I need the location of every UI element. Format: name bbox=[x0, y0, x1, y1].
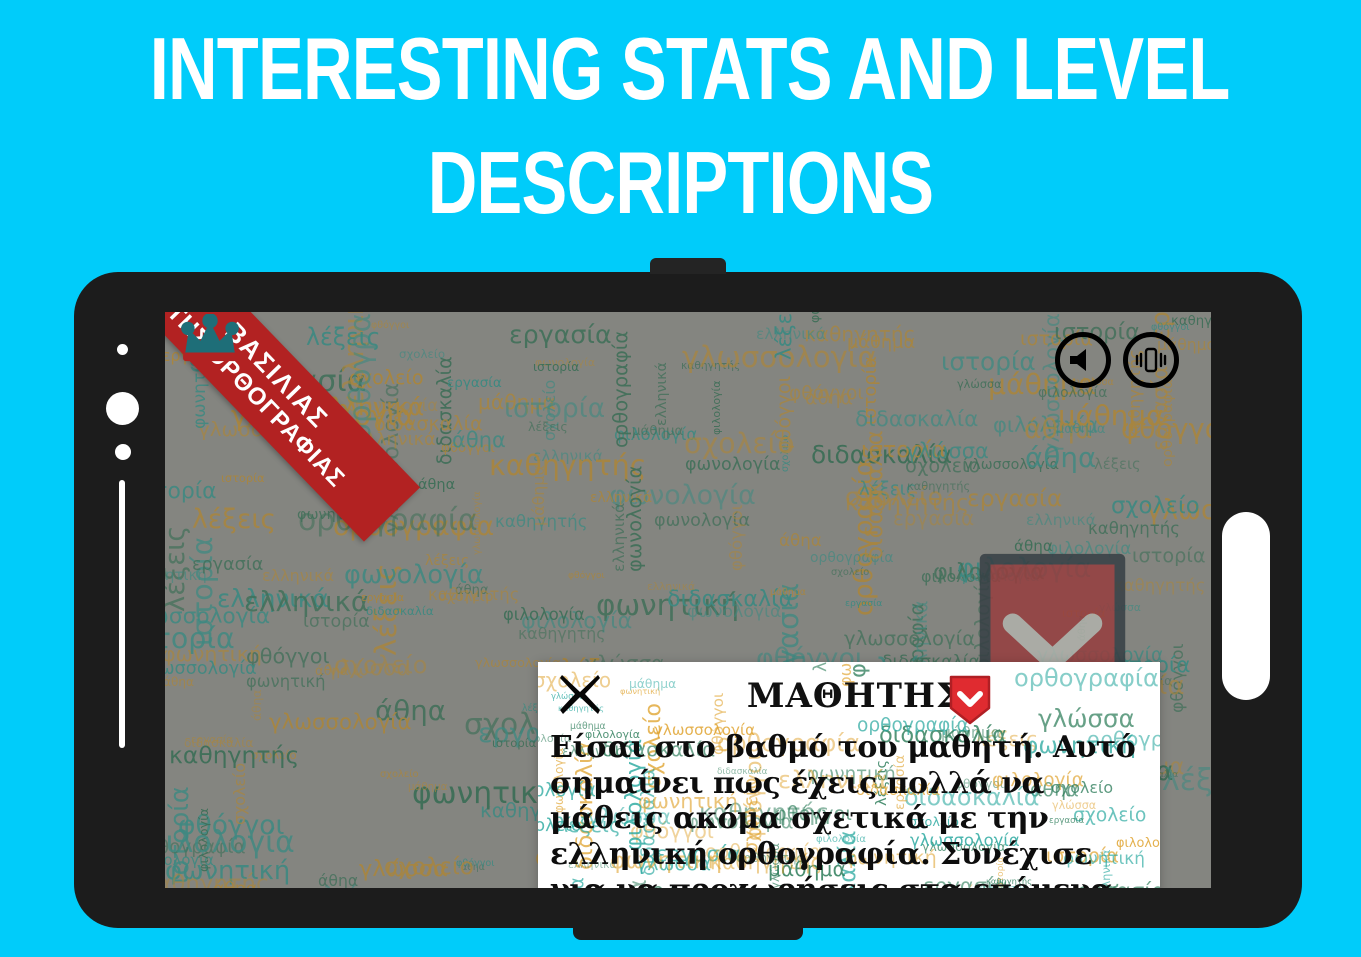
wordcloud-word: ελληνικά bbox=[647, 580, 695, 593]
power-button[interactable] bbox=[1222, 512, 1270, 700]
wordcloud-word: σχολείο bbox=[399, 347, 445, 361]
wordcloud-word: ιστορία bbox=[303, 612, 370, 632]
wordcloud-word: σχολείο bbox=[380, 769, 419, 780]
wordcloud-word: φθόγγοι bbox=[568, 571, 605, 581]
wordcloud-word: ελληνικά bbox=[610, 503, 628, 572]
wordcloud-word: ιστορία bbox=[221, 471, 265, 485]
sound-toggle-button[interactable] bbox=[1055, 332, 1111, 388]
screen-toolbar bbox=[1055, 332, 1179, 388]
wordcloud-word: καθηγητής bbox=[518, 624, 606, 643]
wordcloud-word: λέξεις bbox=[771, 312, 796, 360]
wordcloud-word: φωνητική bbox=[246, 672, 326, 691]
wordcloud-word: καθηγητής bbox=[165, 871, 269, 888]
wordcloud-word: ελληνικά bbox=[654, 362, 670, 426]
device-bottom-notch bbox=[573, 926, 803, 940]
wordcloud-word: ελληνικά bbox=[262, 566, 334, 585]
device-top-notch bbox=[650, 258, 726, 274]
wordcloud-word: εργασία bbox=[361, 592, 404, 604]
wordcloud-word: γλωσσολογία bbox=[165, 659, 257, 679]
vibration-toggle-button[interactable] bbox=[1123, 332, 1179, 388]
vibration-icon bbox=[1135, 346, 1167, 374]
wordcloud-word: άθηα bbox=[250, 689, 264, 721]
wordcloud-word: καθηγητής bbox=[907, 479, 970, 493]
device-screen: γλώσσασχολείοφιλολογίαμάθημαφωνολογίαάθη… bbox=[165, 312, 1211, 888]
level-stats-dialog: σχολείοφθόγγοιφιλολογίαφωνητικήιστορίαελ… bbox=[538, 662, 1160, 888]
wordcloud-word: εργασία bbox=[192, 555, 263, 575]
wordcloud-word: εργασία bbox=[893, 506, 974, 530]
sound-icon bbox=[1068, 347, 1098, 373]
wordcloud-word: εργασία bbox=[845, 598, 882, 609]
wordcloud-word: διδασκαλία bbox=[862, 430, 888, 560]
crown-icon bbox=[179, 314, 241, 364]
volume-button[interactable] bbox=[119, 480, 125, 748]
wordcloud-word: άθηα bbox=[779, 530, 822, 550]
close-icon[interactable] bbox=[554, 668, 606, 720]
wordcloud-word: φθόγγοι bbox=[727, 505, 746, 571]
wordcloud-word: λέξεις bbox=[1094, 456, 1141, 473]
wordcloud-word: σχολείο bbox=[831, 567, 869, 578]
wordcloud-word: σχολείο bbox=[334, 651, 427, 679]
wordcloud-word: διδασκαλία bbox=[855, 407, 978, 432]
wordcloud-word: καθηγητής bbox=[1088, 519, 1180, 538]
shield-badge-icon bbox=[948, 674, 992, 726]
proximity-sensor-icon bbox=[117, 344, 128, 355]
wordcloud-word: μάθημα bbox=[529, 465, 548, 526]
page-headline: INTERESTING STATS AND LEVEL DESCRIPTIONS bbox=[0, 26, 1361, 226]
wordcloud-word: γλώσσα bbox=[957, 378, 1002, 391]
tablet-device-frame: γλώσσασχολείοφιλολογίαμάθημαφωνολογίαάθη… bbox=[74, 272, 1302, 928]
wordcloud-word: μάθημα bbox=[632, 424, 683, 439]
wordcloud-word: ιστορία bbox=[165, 622, 235, 655]
wordcloud-word: ιστορία bbox=[941, 347, 1036, 376]
wordcloud-word: γλωσσολογία bbox=[844, 627, 975, 650]
level-description: Είσαι στο βαθμό του μαθητή. Αυτό σημαίνε… bbox=[550, 730, 1154, 888]
wordcloud-word: άθηα bbox=[805, 388, 853, 409]
wordcloud-word: εργασία bbox=[447, 375, 502, 391]
wordcloud-word: ιστορία bbox=[492, 736, 536, 750]
level-title: ΜΑΘΗΤΗΣ bbox=[538, 676, 1160, 716]
wordcloud-word: φιλολογία bbox=[503, 605, 585, 624]
headline-line-1: INTERESTING STATS AND LEVEL bbox=[150, 26, 1212, 112]
wordcloud-word: φωνολογία bbox=[344, 560, 484, 590]
wordcloud-word: γλώσσα bbox=[906, 439, 989, 463]
headline-line-2: DESCRIPTIONS bbox=[150, 140, 1212, 226]
wordcloud-word: μάθημα bbox=[770, 587, 806, 598]
wordcloud-word: ιστορία bbox=[165, 479, 217, 504]
wordcloud-word: σχολείο bbox=[1111, 493, 1200, 519]
led-indicator-icon bbox=[115, 444, 131, 460]
wordcloud-word: φωνολογία bbox=[687, 602, 781, 622]
wordcloud-word: ορθογραφία bbox=[609, 331, 632, 448]
wordcloud-word: εργασία bbox=[509, 320, 612, 349]
wordcloud-word: σχολείο bbox=[230, 763, 249, 825]
wordcloud-word: μάθημα bbox=[408, 781, 448, 793]
front-camera-icon bbox=[106, 392, 139, 425]
wordcloud-word: εργασία bbox=[967, 484, 1062, 512]
wordcloud-word: φθόγγοι bbox=[772, 376, 795, 453]
wordcloud-word: γλωσσολογία bbox=[269, 710, 412, 735]
wordcloud-word: σχολείο bbox=[384, 854, 474, 880]
wordcloud-word: λέξεις bbox=[192, 504, 276, 535]
wordcloud-word: διδασκαλία bbox=[374, 412, 483, 435]
wordcloud-word: λέξεις bbox=[528, 419, 568, 434]
wordcloud-word: λέξεις bbox=[306, 323, 380, 351]
wordcloud-word: ιστορία bbox=[1132, 544, 1206, 567]
wordcloud-word: άθηα bbox=[1025, 441, 1096, 474]
wordcloud-word: ελληνικά bbox=[1026, 511, 1096, 529]
wordcloud-word: καθηγητής bbox=[169, 741, 299, 769]
wordcloud-word: λέξεις bbox=[1162, 763, 1211, 798]
wordcloud-word: διδασκαλία bbox=[366, 604, 434, 618]
wordcloud-word: σχολείο bbox=[281, 883, 370, 888]
wordcloud-word: άθηα bbox=[418, 477, 455, 493]
wordcloud-word: ιστορία bbox=[533, 360, 579, 374]
wordcloud-word: φιλολογία bbox=[165, 825, 295, 860]
wordcloud-word: μάθημα bbox=[1056, 422, 1105, 437]
